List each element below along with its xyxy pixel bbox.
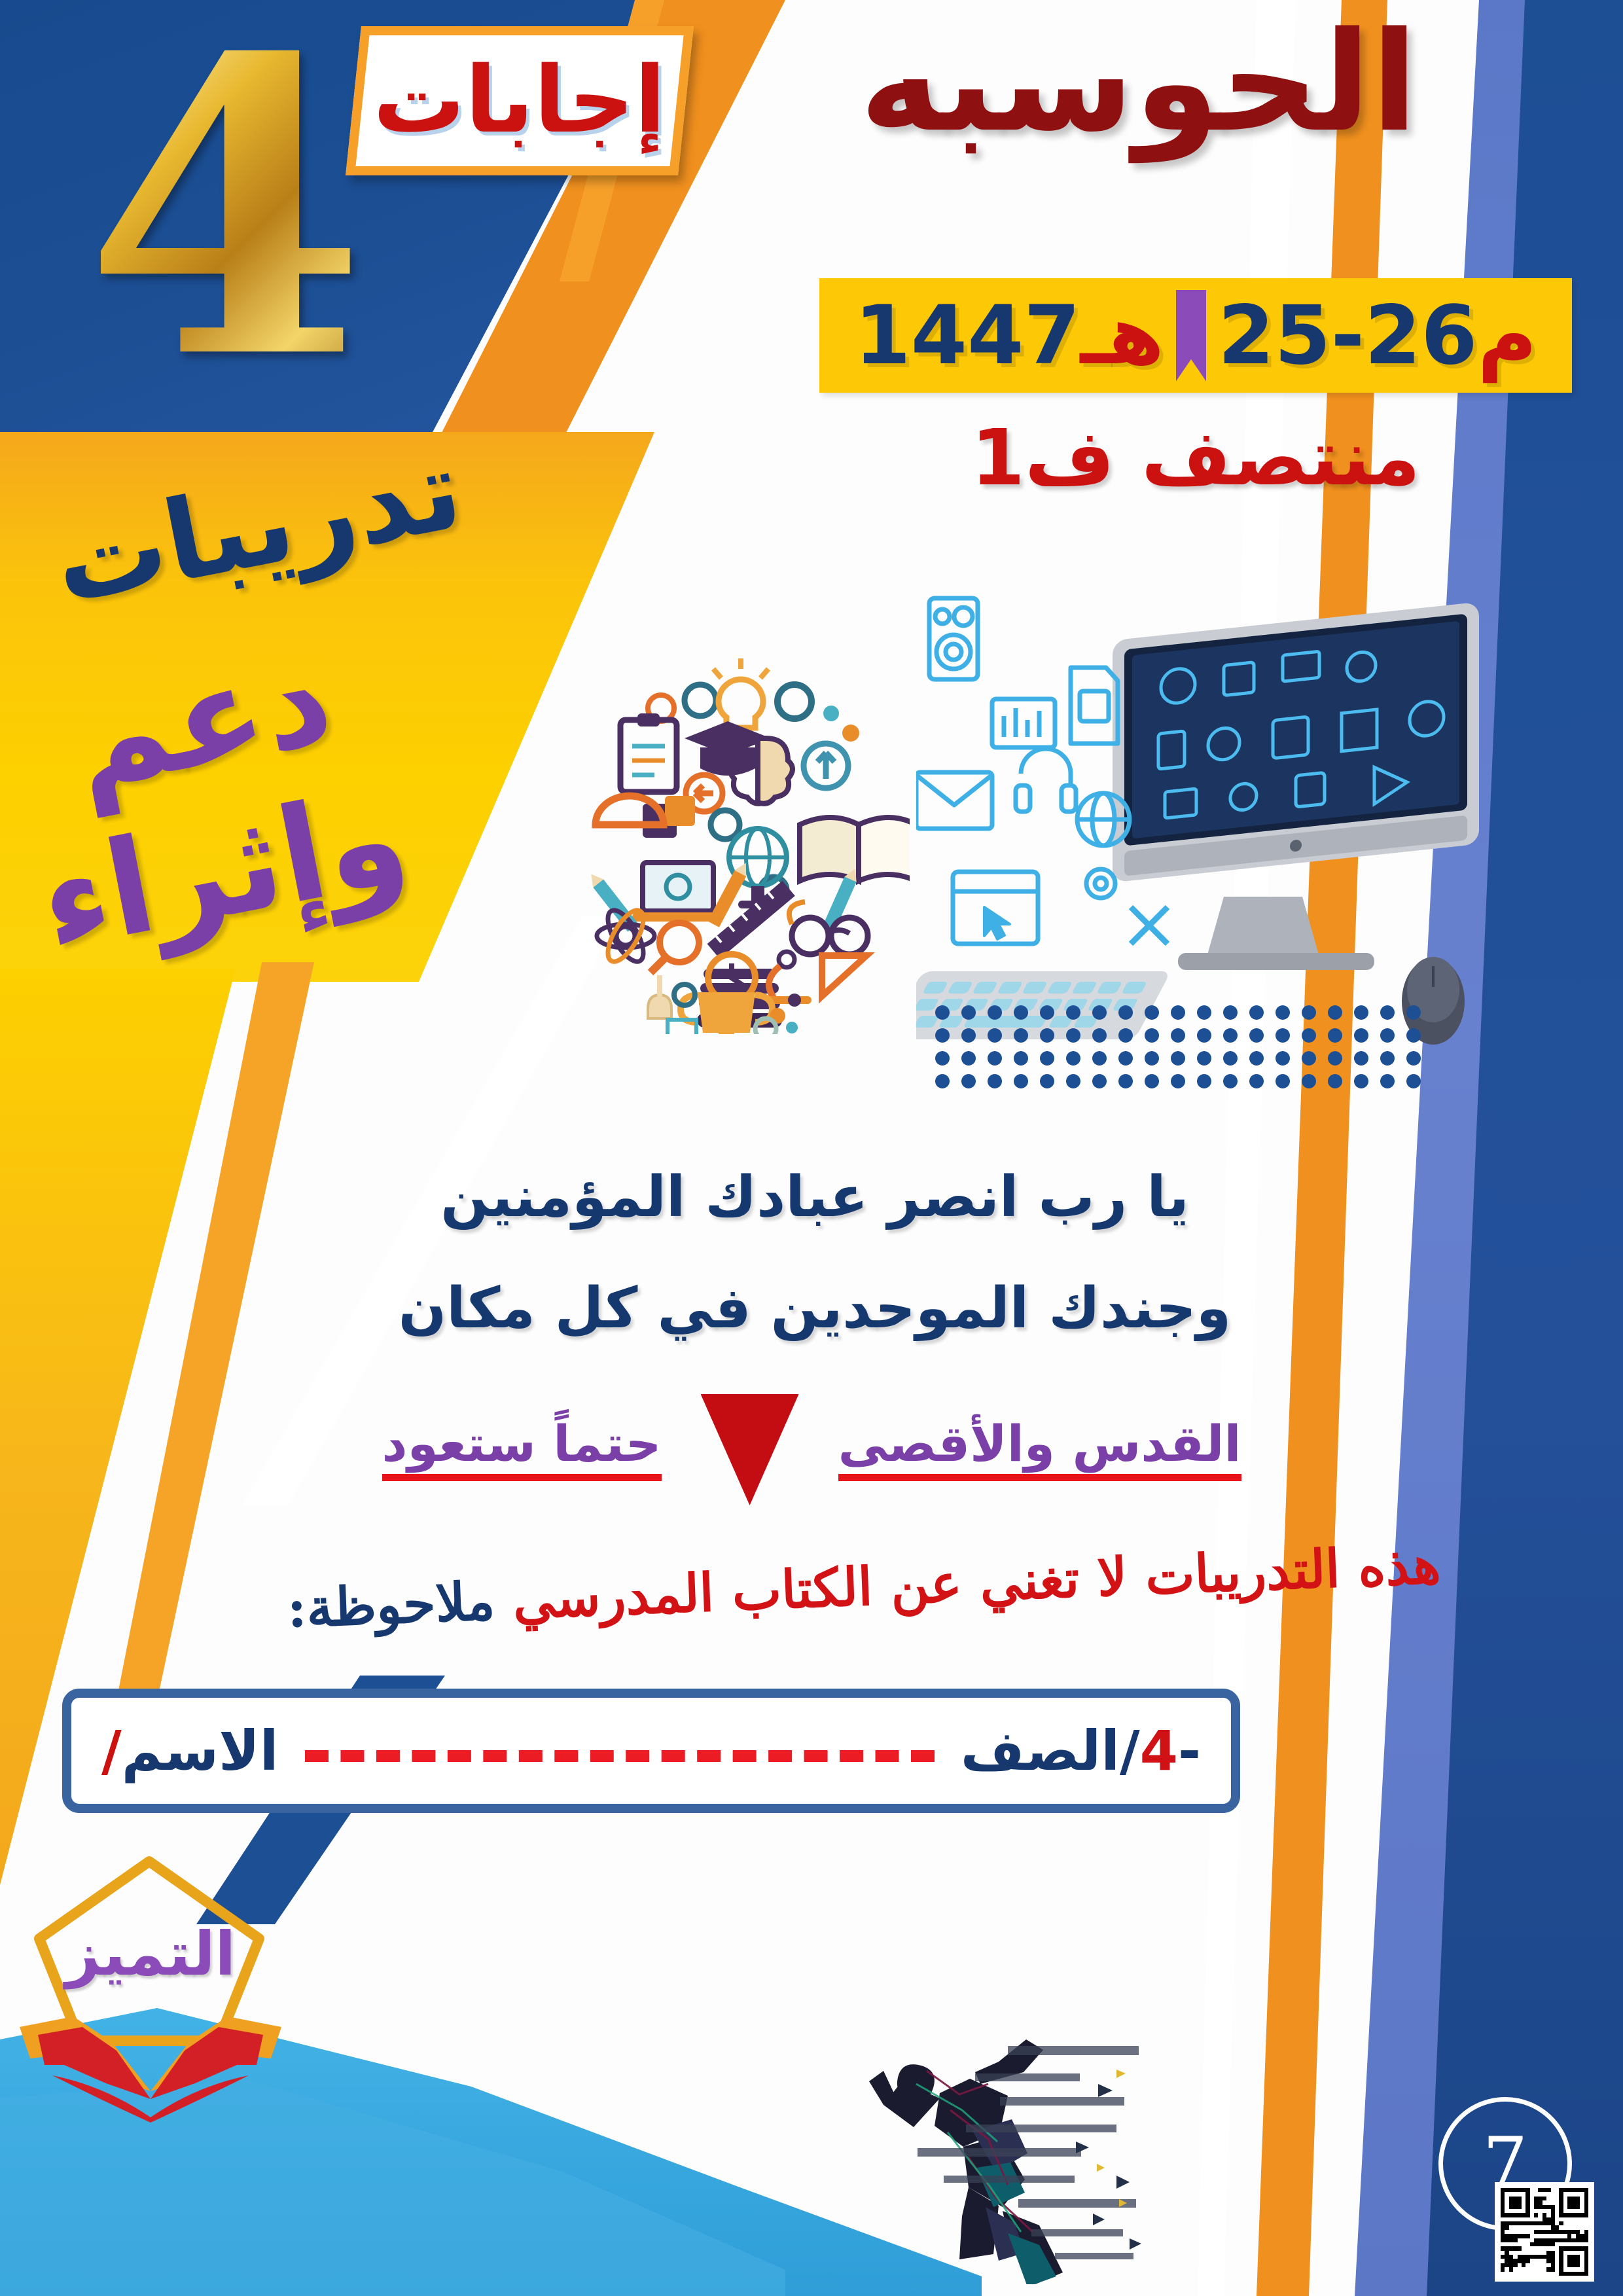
excellence-badge-label: التميز bbox=[13, 1924, 288, 1984]
student-info-box[interactable]: -4/الصف الاسم/ bbox=[62, 1689, 1240, 1813]
name-slash: / bbox=[101, 1719, 122, 1783]
class-number: 4 bbox=[1140, 1719, 1178, 1783]
class-label: الصف bbox=[961, 1719, 1120, 1783]
answers-label: إجابات bbox=[373, 55, 666, 147]
date-banner: م26-25 هـ1447 bbox=[819, 278, 1572, 393]
answers-label-frame: إجابات bbox=[346, 26, 694, 175]
prayer-line-2: وجندك الموحدين في كل مكان bbox=[347, 1276, 1283, 1341]
name-write-line[interactable] bbox=[305, 1750, 935, 1762]
hijri-date: هـ1447 bbox=[855, 295, 1164, 376]
prayer-line-1: يا رب انصر عبادك المؤمنين bbox=[347, 1165, 1283, 1230]
class-field[interactable]: -4/الصف bbox=[961, 1719, 1201, 1783]
quds-slogan-left: حتماً ستعود bbox=[382, 1419, 662, 1481]
running-athlete-icon bbox=[811, 2003, 1217, 2284]
note-label: ملاحوظة: bbox=[286, 1570, 496, 1640]
name-label: الاسم bbox=[122, 1719, 279, 1783]
hijri-number: 1447 bbox=[855, 289, 1080, 383]
gregorian-mark: م bbox=[1478, 289, 1537, 383]
name-field[interactable]: الاسم/ bbox=[101, 1719, 279, 1783]
education-lightbulb-icon bbox=[569, 628, 910, 1034]
bookmark-icon bbox=[1176, 290, 1206, 382]
hijri-mark: هـ bbox=[1080, 289, 1164, 383]
dot-grid-decoration bbox=[929, 1001, 1427, 1093]
class-suffix: - bbox=[1178, 1719, 1201, 1783]
quds-slogan-right: القدس والأقصى bbox=[838, 1419, 1241, 1481]
quds-slogan-row: القدس والأقصى حتماً ستعود bbox=[366, 1388, 1257, 1512]
excellence-badge: التميز bbox=[13, 1846, 288, 2121]
gregorian-date: م26-25 bbox=[1218, 295, 1537, 376]
term-label: منتصف ف1 bbox=[819, 419, 1572, 496]
poster-root: 4 إجابات الحوسبه م26-25 هـ1447 منتصف ف1 … bbox=[0, 0, 1623, 2296]
open-book-ribbon-icon bbox=[13, 2013, 288, 2124]
desktop-computer-icon bbox=[916, 589, 1518, 1060]
qr-code-icon[interactable] bbox=[1495, 2182, 1594, 2282]
grade-number-4: 4 bbox=[92, 13, 366, 432]
gregorian-number: 26-25 bbox=[1218, 289, 1478, 383]
class-slash: / bbox=[1120, 1719, 1140, 1783]
red-triangle-icon bbox=[701, 1394, 799, 1505]
page-title: الحوسبه bbox=[700, 7, 1577, 158]
